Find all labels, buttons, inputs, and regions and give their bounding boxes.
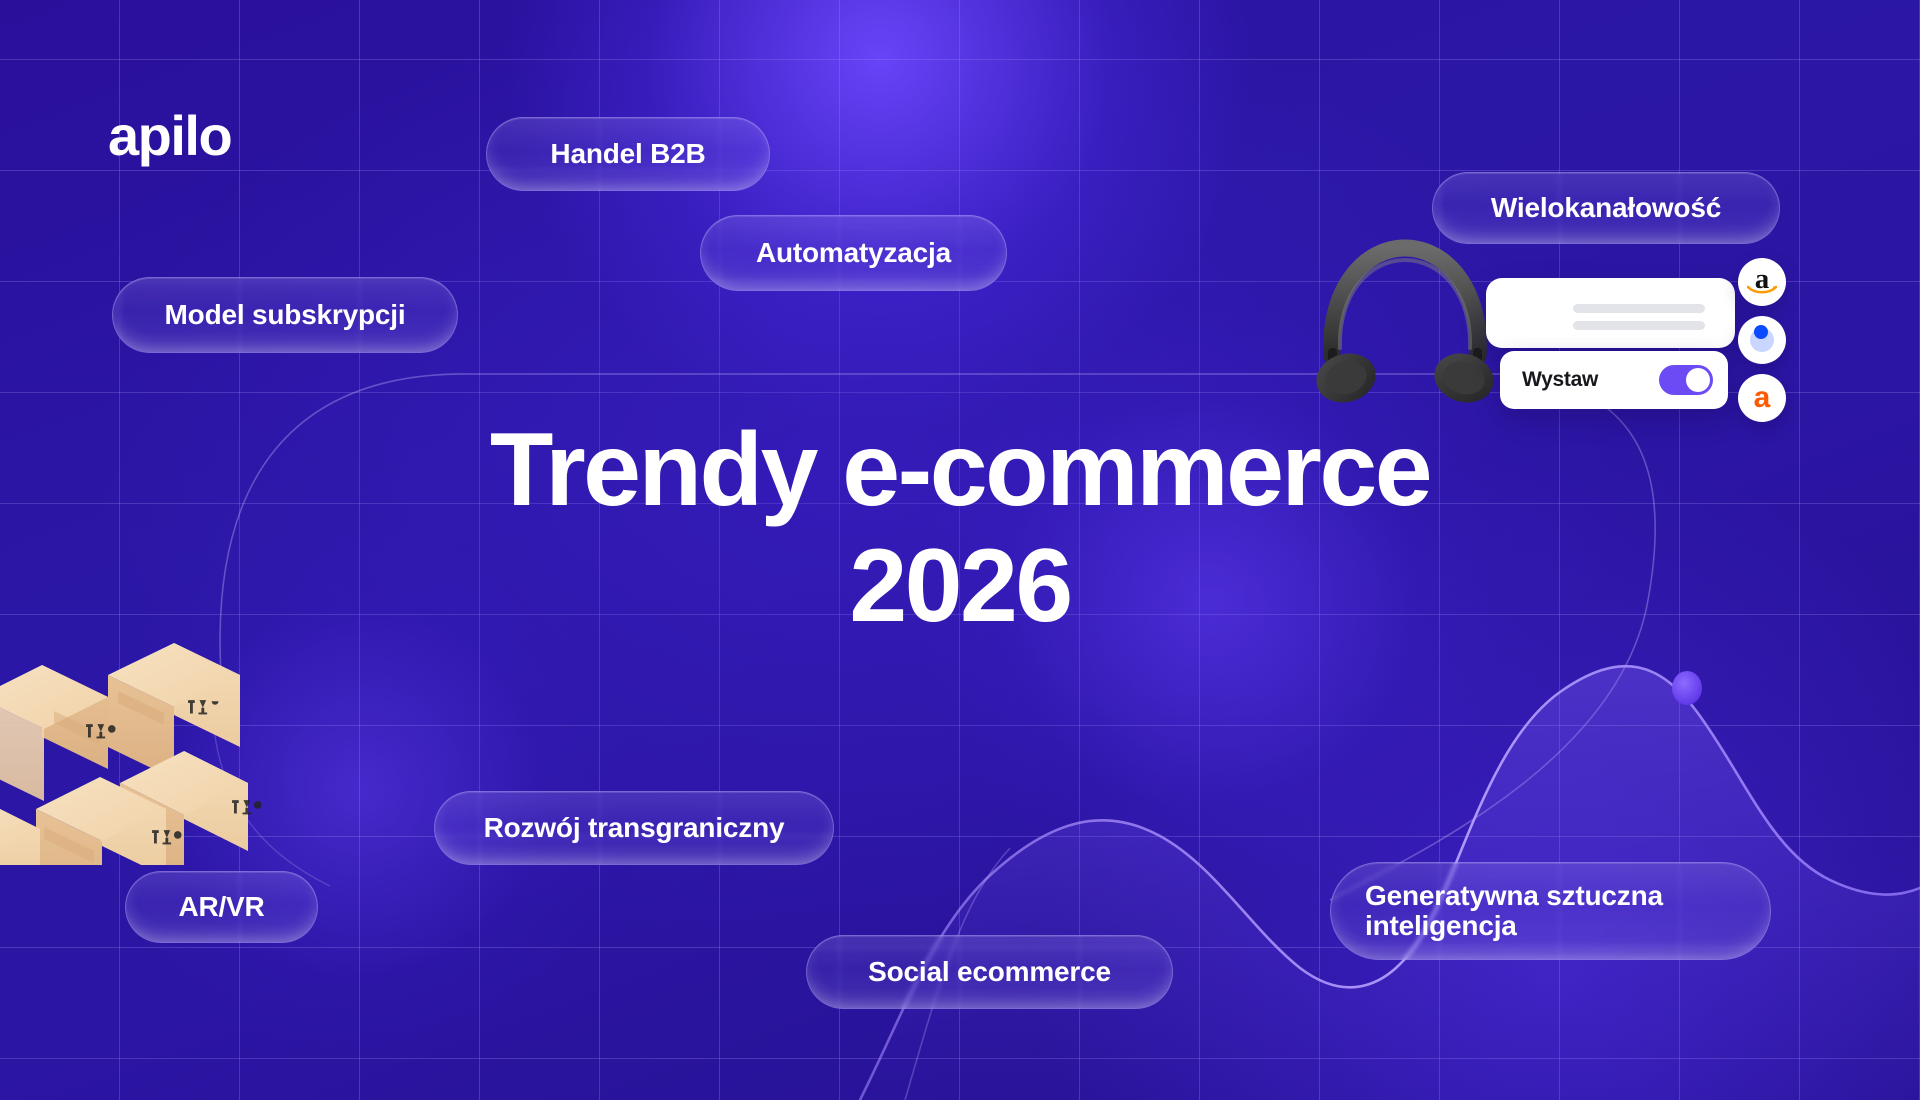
chart-peak-marker: [1672, 671, 1702, 705]
publish-toggle-card[interactable]: Wystaw: [1500, 351, 1728, 409]
product-title-placeholder: [1573, 304, 1705, 313]
apilo-logo: apilo: [108, 108, 231, 164]
headphones-icon: [1310, 228, 1500, 403]
product-thumbnail: [1502, 288, 1552, 338]
marketplace-listing-widget: Wystaw a a: [1368, 238, 1804, 428]
allegro-icon[interactable]: a: [1738, 374, 1786, 422]
cardboard-boxes-illustration: [0, 515, 308, 865]
product-subtitle-placeholder: [1573, 321, 1705, 330]
tag-rozwoj-transgraniczny[interactable]: Rozwój transgraniczny: [434, 791, 834, 865]
amazon-smile-icon: [1747, 285, 1777, 296]
page-title-line-1: Trendy e-commerce: [490, 412, 1430, 528]
product-card[interactable]: [1486, 278, 1735, 348]
tag-social-ecommerce[interactable]: Social ecommerce: [806, 935, 1173, 1009]
ebay-icon[interactable]: [1738, 316, 1786, 364]
tag-ar-vr[interactable]: AR/VR: [125, 871, 318, 943]
ebay-dot-shape: [1750, 328, 1774, 352]
tag-automatyzacja[interactable]: Automatyzacja: [700, 215, 1007, 291]
amazon-icon[interactable]: a: [1738, 258, 1786, 306]
publish-toggle-switch[interactable]: [1659, 365, 1713, 395]
tag-model-subskrypcji[interactable]: Model subskrypcji: [112, 277, 458, 353]
tag-handel-b2b[interactable]: Handel B2B: [486, 117, 770, 191]
publish-toggle-label: Wystaw: [1522, 368, 1598, 392]
poster-canvas: apilo Trendy e-commerce 2026 Handel B2B …: [0, 0, 1920, 1100]
allegro-letter: a: [1754, 383, 1771, 413]
marketplace-icon-stack: a a: [1738, 258, 1786, 422]
tag-generatywna-ai[interactable]: Generatywna sztuczna inteligencja: [1330, 862, 1771, 960]
